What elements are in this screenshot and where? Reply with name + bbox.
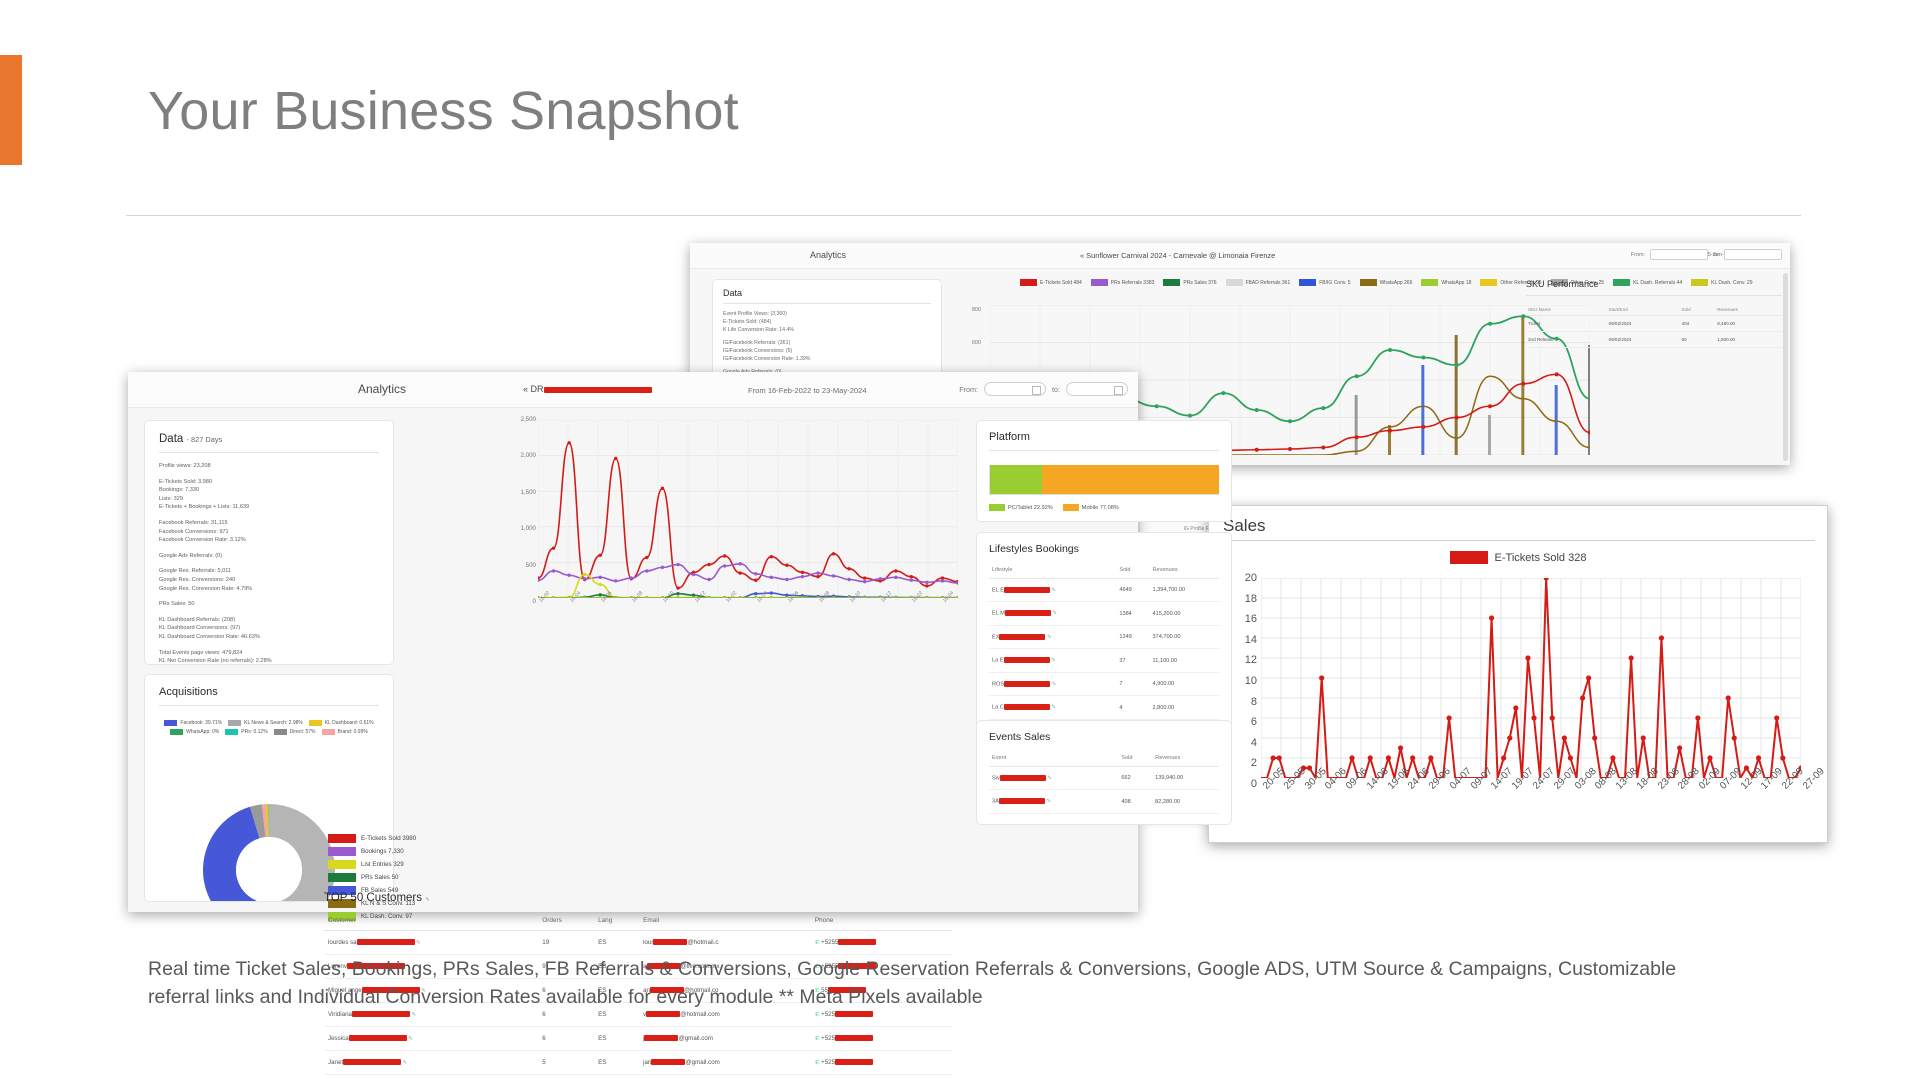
legend-item: Facebook: 39.71% — [164, 720, 222, 726]
table-cell: 2nd Release — [1526, 332, 1607, 348]
customer-cell: Janet ✎ — [324, 1051, 538, 1075]
platform-title: Platform — [989, 431, 1219, 443]
lang-cell: ES — [594, 1027, 639, 1051]
legend-swatch — [164, 720, 177, 726]
lifestyles-table: LifestyleSoldRevenues EL E ✎46491,394,70… — [989, 562, 1219, 720]
legend-label: Direct: 57% — [290, 729, 316, 735]
platform-legend: PC/Tablet 22.92%Mobile 77.08% — [989, 504, 1219, 511]
legend-swatch — [1421, 279, 1438, 286]
acquisitions-legend: Facebook: 39.71%KL News & Search: 2.98%K… — [159, 720, 379, 735]
legend-label: PRs Sales 376 — [1183, 280, 1216, 286]
redaction — [1005, 610, 1051, 616]
edit-pencil-icon[interactable]: ✎ — [1050, 681, 1056, 687]
legend-item: PRs Referrals 3383 — [1091, 279, 1155, 286]
redaction — [349, 1035, 407, 1041]
legend-label: PRs Sales 50 — [361, 874, 399, 881]
title-divider — [126, 215, 1801, 216]
redaction — [835, 1059, 873, 1065]
edit-pencil-icon[interactable]: ✎ — [410, 1012, 416, 1018]
data-group: Google Ads Referrals: (0) — [159, 552, 379, 561]
table-cell: 1384 — [1116, 602, 1149, 625]
phone-cell: ✆ +525 — [811, 1027, 952, 1051]
main-to-input[interactable] — [1066, 382, 1128, 396]
table-cell: 1,394,700.00 — [1150, 579, 1220, 602]
phone-cell: ✆ +525 — [811, 1051, 952, 1075]
table-row: ROS ✎74,900.00 — [989, 672, 1219, 695]
acquisitions-title: Acquisitions — [159, 686, 379, 698]
table-cell: 7 — [1116, 672, 1149, 695]
data-group: Profile views: 23,208 — [159, 462, 379, 471]
redaction — [999, 798, 1045, 804]
legend-swatch — [225, 729, 238, 735]
legend-swatch — [1299, 279, 1316, 286]
axis-tick: 600 — [972, 340, 981, 373]
column-header: Phone — [811, 911, 952, 931]
legend-label: WhatsApp: 0% — [186, 729, 219, 735]
table-cell: 139,940.00 — [1152, 767, 1219, 790]
column-header: Lang — [594, 911, 639, 931]
redaction — [999, 634, 1045, 640]
sku-title: SKU Performance — [1526, 279, 1782, 289]
legend-label: FBAD Referrals 361 — [1246, 280, 1291, 286]
legend-swatch — [322, 729, 335, 735]
table-row: 2nd Release09/02/2024601,800.00 — [1526, 332, 1782, 348]
table-row: Siv ✎662139,940.00 — [989, 767, 1219, 790]
top50-title: TOP 50 Customers ✎ — [324, 892, 952, 904]
legend-item: Bookings 7,330 — [328, 847, 416, 856]
whatsapp-icon[interactable]: ✆ — [815, 1060, 821, 1066]
data-group: KL Dashboard Referrals: (208)KL Dashboar… — [159, 616, 379, 642]
axis-tick: 2,500 — [506, 416, 536, 452]
lifestyles-bookings-card: Lifestyles Bookings LifestyleSoldRevenue… — [976, 532, 1232, 731]
legend-item: FB/IG Conv. 5 — [1299, 279, 1350, 286]
events-title: Events Sales — [989, 731, 1219, 743]
edit-pencil-icon[interactable]: ✎ — [425, 897, 430, 903]
main-line-chart — [538, 420, 958, 598]
legend-label: E-Tickets Sold 484 — [1040, 280, 1082, 286]
accent-bar — [0, 55, 22, 165]
sku-performance-card: SKU Performance SKU NameStart/EndSoldRev… — [1526, 279, 1782, 348]
table-cell: 82,280.00 — [1152, 790, 1219, 813]
page-title: Your Business Snapshot — [148, 80, 739, 142]
table-cell: 09/02/2024 — [1607, 316, 1680, 332]
table-row: lourdes sa ✎19ESlour@hotmail.c✆ +5255 — [324, 931, 952, 955]
table-cell: 2,800.00 — [1150, 696, 1220, 719]
redaction — [646, 1011, 680, 1017]
main-to-label: to: — [1052, 385, 1060, 394]
sales-line-chart — [1261, 578, 1801, 778]
redaction — [651, 1059, 685, 1065]
table-cell: La C ✎ — [989, 696, 1116, 719]
sales-legend-swatch — [1450, 551, 1488, 564]
table-cell: 374,700.00 — [1150, 625, 1220, 648]
redaction — [835, 1035, 873, 1041]
legend-item: FBAD Referrals 361 — [1226, 279, 1291, 286]
legend-label: Brand: 0.99% — [338, 729, 368, 735]
edit-pencil-icon[interactable]: ✎ — [1050, 705, 1056, 711]
back-to-label: to: — [1713, 252, 1719, 258]
edit-pencil-icon[interactable]: ✎ — [1045, 799, 1051, 805]
sales-x-axis: 20-0525-0530-0504-0609-0614-0619-0624-06… — [1261, 784, 1801, 840]
main-date-range: From 16-Feb-2022 to 23-May-2024 — [748, 386, 867, 395]
main-dashboard-topbar: Analytics « DR From 16-Feb-2022 to 23-Ma… — [128, 372, 1138, 408]
slide-caption: Real time Ticket Sales, Bookings, PRs Sa… — [148, 955, 1728, 1011]
legend-item: PC/Tablet 22.92% — [989, 504, 1053, 511]
edit-pencil-icon[interactable]: ✎ — [1050, 658, 1056, 664]
main-chart-x-axis: 16-0216-0416-0616-0816-1016-1216-0216-04… — [538, 600, 958, 630]
sku-table-body: Ticket09/02/20244048,480.002nd Release09… — [1526, 316, 1782, 348]
customer-cell: Jessica ✎ — [324, 1027, 538, 1051]
axis-tick: 27-09 — [1801, 766, 1827, 792]
legend-swatch — [328, 847, 356, 856]
column-header: Revenues — [1715, 304, 1782, 316]
edit-pencil-icon[interactable]: ✎ — [415, 940, 421, 946]
back-nav-analytics[interactable]: Analytics — [810, 250, 846, 260]
sku-table: SKU NameStart/EndSoldRevenues Ticket09/0… — [1526, 304, 1782, 348]
data-group: Facebook Referrals: 31,115Facebook Conve… — [159, 519, 379, 545]
column-header: Orders — [538, 911, 594, 931]
platform-bar-segment — [1042, 465, 1219, 494]
table-cell: 4649 — [1116, 579, 1149, 602]
sales-chart-panel: Sales E-Tickets Sold 328 201816141210864… — [1208, 505, 1828, 843]
data-card-title: Data - 827 Days — [159, 433, 379, 445]
column-header: Event — [989, 750, 1118, 767]
main-event-title: « DR — [523, 384, 652, 394]
legend-label: KL Dashboard: 0.61% — [325, 720, 374, 726]
axis-tick: 500 — [506, 562, 536, 598]
legend-swatch — [328, 834, 356, 843]
legend-item: WhatsApp: 0% — [170, 729, 219, 735]
legend-item: PRs Sales 376 — [1163, 279, 1216, 286]
sales-legend: E-Tickets Sold 328 — [1209, 551, 1827, 564]
edit-pencil-icon[interactable]: ✎ — [401, 1060, 407, 1066]
legend-swatch — [1480, 279, 1497, 286]
edit-pencil-icon[interactable]: ✎ — [1051, 611, 1057, 617]
legend-item: WhatsApp 266 — [1360, 279, 1413, 286]
table-cell: 4 — [1116, 696, 1149, 719]
data-card-divider — [159, 452, 379, 453]
back-data-title: Data — [723, 288, 931, 298]
legend-swatch — [309, 720, 322, 726]
table-cell: 404 — [1680, 316, 1716, 332]
redaction — [835, 1011, 873, 1017]
legend-item: E-Tickets Sold 3980 — [328, 834, 416, 843]
table-cell: EL E ✎ — [989, 579, 1116, 602]
back-to-input[interactable] — [1724, 249, 1782, 260]
data-card: Data - 827 Days Profile views: 23,208E-T… — [144, 420, 394, 665]
platform-card: Platform PC/Tablet 22.92%Mobile 77.08% — [976, 420, 1232, 522]
legend-item: KL News & Search: 2.98% — [228, 720, 303, 726]
platform-bar-chart — [989, 465, 1219, 495]
redaction — [1004, 704, 1050, 710]
legend-swatch — [328, 860, 356, 869]
legend-swatch — [328, 873, 356, 882]
legend-label: PRs Referrals 3383 — [1111, 280, 1155, 286]
back-data-lines: Event Profile Views: (3,360)E-Tickets So… — [723, 310, 931, 376]
legend-item: E-Tickets Sold 484 — [1020, 279, 1082, 286]
lifestyles-title: Lifestyles Bookings — [989, 543, 1219, 555]
legend-label: KL News & Search: 2.98% — [244, 720, 303, 726]
back-from-label: From: — [1631, 252, 1645, 258]
table-cell: 8,480.00 — [1715, 316, 1782, 332]
table-row: Jessica ✎6ESj@gmail.com✆ +525 — [324, 1027, 952, 1051]
back-date-filter[interactable]: From: to: — [1631, 249, 1782, 260]
table-cell: Ticket — [1526, 316, 1607, 332]
redaction — [644, 1035, 678, 1041]
main-chart-y-axis: 2,5002,0001,5001,0005000 — [506, 416, 536, 598]
redaction — [352, 1011, 410, 1017]
edit-pencil-icon[interactable]: ✎ — [407, 1036, 413, 1042]
legend-item: PRs: 0.12% — [225, 729, 267, 735]
axis-tick: 1,500 — [506, 489, 536, 525]
lang-cell: ES — [594, 931, 639, 955]
customer-cell: lourdes sa ✎ — [324, 931, 538, 955]
table-row: EL E ✎46491,394,700.00 — [989, 579, 1219, 602]
legend-swatch — [1020, 279, 1037, 286]
redaction — [343, 1059, 401, 1065]
table-cell: 1249 — [1116, 625, 1149, 648]
data-card-groups: Profile views: 23,208E-Tickets Sold: 3,9… — [159, 462, 379, 666]
redaction — [357, 939, 415, 945]
table-row: Ticket09/02/20244048,480.00 — [1526, 316, 1782, 332]
axis-tick: 1,000 — [506, 525, 536, 561]
main-date-filter[interactable]: From: to: — [959, 382, 1128, 396]
back-data-divider — [723, 303, 931, 304]
legend-swatch — [274, 729, 287, 735]
table-row: EX ✎1249374,700.00 — [989, 625, 1219, 648]
legend-item: PRs Sales 50 — [328, 873, 416, 882]
redaction — [653, 939, 687, 945]
main-event-prefix: « DR — [523, 384, 544, 394]
events-table-header: EventSoldRevenues — [989, 750, 1219, 767]
legend-swatch — [1226, 279, 1243, 286]
legend-item: Direct: 57% — [274, 729, 316, 735]
back-event-title: « Sunflower Carnival 2024 - Carnevale @ … — [1080, 251, 1275, 260]
email-cell: jan@gmail.com — [639, 1051, 811, 1075]
legend-item: WhatsApp 18 — [1421, 279, 1471, 286]
email-cell: lour@hotmail.c — [639, 931, 811, 955]
table-row: La C ✎42,800.00 — [989, 696, 1219, 719]
whatsapp-icon[interactable]: ✆ — [815, 1012, 821, 1018]
column-header: Revenues — [1152, 750, 1219, 767]
edit-pencil-icon[interactable]: ✎ — [1046, 775, 1052, 781]
orders-cell: 5 — [538, 1051, 594, 1075]
events-sales-card: Events Sales EventSoldRevenues Siv ✎6621… — [976, 720, 1232, 825]
data-group: PRs Sales: 50 — [159, 600, 379, 609]
top50-table-header: CustomerOrdersLangEmailPhone — [324, 911, 952, 931]
platform-divider — [989, 450, 1219, 451]
table-cell: 11,100.00 — [1150, 649, 1220, 672]
table-cell: 60 — [1680, 332, 1716, 348]
table-cell: EX ✎ — [989, 625, 1116, 648]
legend-label: WhatsApp 18 — [1441, 280, 1471, 286]
table-cell: 4,900.00 — [1150, 672, 1220, 695]
legend-label: Mobile 77.08% — [1082, 505, 1119, 511]
lang-cell: ES — [594, 1051, 639, 1075]
column-header: Sold — [1118, 750, 1152, 767]
legend-label: List Entries 329 — [361, 861, 404, 868]
column-header: Sold — [1116, 562, 1149, 579]
redaction — [838, 939, 876, 945]
main-event-redaction — [544, 387, 652, 393]
platform-bar-segment — [990, 465, 1042, 494]
whatsapp-icon[interactable]: ✆ — [815, 1036, 821, 1042]
table-row: EL M ✎1384415,200.00 — [989, 602, 1219, 625]
table-cell: 408 — [1118, 790, 1152, 813]
table-cell: 1,800.00 — [1715, 332, 1782, 348]
redaction — [1000, 775, 1046, 781]
table-cell: 662 — [1118, 767, 1152, 790]
acquisitions-donut-chart — [194, 795, 344, 902]
acquisitions-divider — [159, 705, 379, 706]
table-row: Janet ✎5ESjan@gmail.com✆ +525 — [324, 1051, 952, 1075]
orders-cell: 19 — [538, 931, 594, 955]
edit-pencil-icon[interactable]: ✎ — [1045, 634, 1051, 640]
legend-label: Facebook: 39.71% — [180, 720, 222, 726]
redaction — [1004, 657, 1050, 663]
axis-tick: 2,000 — [506, 452, 536, 488]
acquisitions-donut-wrap — [194, 795, 344, 902]
data-group: Google Res. Referrals: 5,011Google Res. … — [159, 567, 379, 593]
legend-swatch — [1091, 279, 1108, 286]
sales-legend-label: E-Tickets Sold 328 — [1495, 552, 1587, 564]
axis-tick: 0 — [506, 598, 536, 634]
phone-cell: ✆ +5255 — [811, 931, 952, 955]
column-header: Sold — [1680, 304, 1716, 316]
back-dashboard-topbar: Analytics « Sunflower Carnival 2024 - Ca… — [690, 243, 1790, 269]
events-table-body: Siv ✎662139,940.003A ✎40882,280.00 — [989, 767, 1219, 814]
table-row: 3A ✎40882,280.00 — [989, 790, 1219, 813]
legend-swatch — [1063, 504, 1079, 511]
redaction — [1004, 681, 1050, 687]
column-header: Email — [639, 911, 811, 931]
main-from-label: From: — [959, 385, 978, 394]
legend-swatch — [170, 729, 183, 735]
main-analytics-dashboard: Analytics « DR From 16-Feb-2022 to 23-Ma… — [128, 372, 1138, 912]
legend-label: PRs: 0.12% — [241, 729, 267, 735]
back-scrollbar[interactable] — [1783, 273, 1788, 461]
column-header: Revenues — [1150, 562, 1220, 579]
table-cell: ROS ✎ — [989, 672, 1116, 695]
sku-table-header: SKU NameStart/EndSoldRevenues — [1526, 304, 1782, 316]
sales-divider — [1223, 540, 1815, 541]
column-header: Lifestyle — [989, 562, 1116, 579]
legend-label: PC/Tablet 22.92% — [1008, 505, 1053, 511]
main-from-input[interactable] — [984, 382, 1046, 396]
table-cell: 415,200.00 — [1150, 602, 1220, 625]
table-cell: 37 — [1116, 649, 1149, 672]
top50-title-text: TOP 50 Customers — [324, 892, 422, 904]
back-from-input[interactable] — [1650, 249, 1708, 260]
sku-divider — [1526, 295, 1782, 296]
legend-item: Brand: 0.99% — [322, 729, 368, 735]
legend-swatch — [228, 720, 241, 726]
column-header: SKU Name — [1526, 304, 1607, 316]
column-header: Customer — [324, 911, 538, 931]
legend-item: List Entries 329 — [328, 860, 416, 869]
table-cell: EL M ✎ — [989, 602, 1116, 625]
email-cell: j@gmail.com — [639, 1027, 811, 1051]
table-cell: La E ✎ — [989, 649, 1116, 672]
data-group: Total Events page views: 479,824KL Net C… — [159, 649, 379, 666]
column-header: Start/End — [1607, 304, 1680, 316]
data-card-subtitle: - 827 Days — [187, 435, 223, 444]
table-cell: 3A ✎ — [989, 790, 1118, 813]
lifestyles-table-header: LifestyleSoldRevenues — [989, 562, 1219, 579]
legend-label: Bookings 7,330 — [361, 848, 404, 855]
edit-pencil-icon[interactable]: ✎ — [1050, 587, 1056, 593]
orders-cell: 6 — [538, 1027, 594, 1051]
events-table: EventSoldRevenues Siv ✎662139,940.003A ✎… — [989, 750, 1219, 814]
table-row: La E ✎3711,100.00 — [989, 649, 1219, 672]
legend-label: FB/IG Conv. 5 — [1319, 280, 1350, 286]
axis-tick: 800 — [972, 307, 981, 340]
data-card-title-text: Data — [159, 433, 183, 445]
legend-swatch — [1163, 279, 1180, 286]
legend-label: E-Tickets Sold 3980 — [361, 835, 416, 842]
legend-item: KL Dashboard: 0.61% — [309, 720, 374, 726]
table-cell: 09/02/2024 — [1607, 332, 1680, 348]
main-nav-analytics[interactable]: Analytics — [358, 382, 406, 396]
data-group: E-Tickets Sold: 3,980Bookings: 7,330List… — [159, 478, 379, 512]
table-cell: Siv ✎ — [989, 767, 1118, 790]
legend-label: WhatsApp 266 — [1380, 280, 1413, 286]
lifestyles-table-body: EL E ✎46491,394,700.00EL M ✎1384415,200.… — [989, 579, 1219, 720]
legend-swatch — [1360, 279, 1377, 286]
legend-swatch — [989, 504, 1005, 511]
whatsapp-icon[interactable]: ✆ — [815, 940, 821, 946]
redaction — [1004, 587, 1050, 593]
legend-item: Mobile 77.08% — [1063, 504, 1119, 511]
